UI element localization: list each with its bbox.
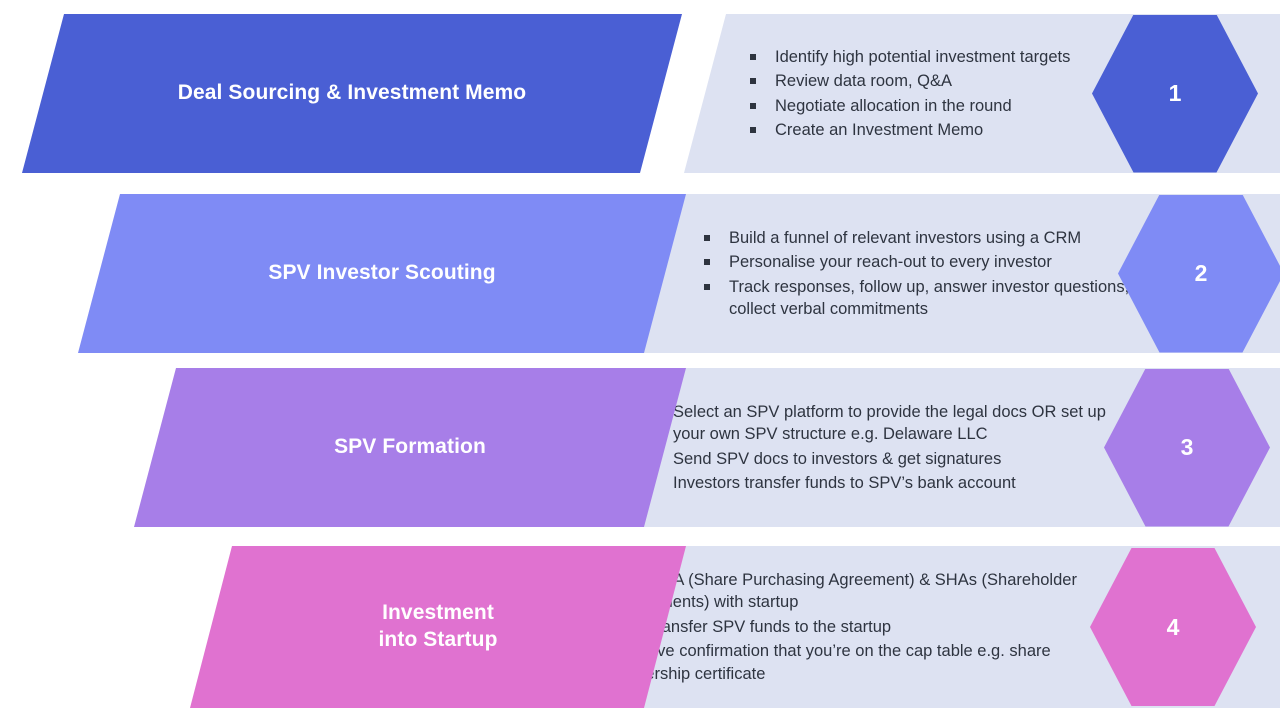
bullet-item: Personalise your reach-out to every inve… (702, 251, 1130, 274)
bullet-text: Negotiate allocation in the round (775, 97, 1012, 115)
square-bullet-icon (704, 259, 710, 265)
bullet-item: Select an SPV platform to provide the le… (646, 401, 1130, 446)
stage-title: SPV Investor Scouting (268, 259, 495, 288)
stage-bullet-list: Identify high potential investment targe… (748, 46, 1070, 142)
bullet-item: Track responses, follow up, answer inves… (702, 276, 1130, 321)
stage-number: 3 (1181, 436, 1194, 459)
bullet-text: Send SPV docs to investors & get signatu… (673, 450, 1001, 468)
stage-title: Investment into Startup (378, 599, 497, 655)
stage-number: 4 (1167, 616, 1180, 639)
bullet-text: Sign SPA (Share Purchasing Agreement) & … (615, 571, 1077, 612)
stage-label-shape: SPV Investor Scouting (78, 194, 686, 353)
bullet-item: Receive confirmation that you’re on the … (588, 640, 1130, 685)
bullet-item: Send SPV docs to investors & get signatu… (646, 448, 1130, 471)
stage-number: 1 (1169, 82, 1182, 105)
stage-row: Select an SPV platform to provide the le… (0, 368, 1280, 527)
stage-bullet-list: Select an SPV platform to provide the le… (646, 401, 1130, 495)
square-bullet-icon (750, 103, 756, 109)
bullet-item: Negotiate allocation in the round (748, 95, 1070, 118)
stage-label-shape: Investment into Startup (190, 546, 686, 708)
bullet-text: Track responses, follow up, answer inves… (729, 278, 1129, 319)
stage-row: Sign SPA (Share Purchasing Agreement) & … (0, 546, 1280, 708)
square-bullet-icon (750, 78, 756, 84)
process-funnel-diagram: Identify high potential investment targe… (0, 0, 1280, 720)
bullet-text: Receive confirmation that you’re on the … (615, 642, 1051, 683)
bullet-text: Investors transfer funds to SPV’s bank a… (673, 474, 1016, 492)
stage-label-shape: SPV Formation (134, 368, 686, 527)
stage-title: Deal Sourcing & Investment Memo (178, 79, 527, 108)
stage-row: Identify high potential investment targe… (0, 14, 1280, 173)
square-bullet-icon (750, 127, 756, 133)
stage-row: Build a funnel of relevant investors usi… (0, 194, 1280, 353)
stage-label-shape: Deal Sourcing & Investment Memo (22, 14, 682, 173)
bullet-text: Review data room, Q&A (775, 72, 952, 90)
bullet-item: Review data room, Q&A (748, 70, 1070, 93)
bullet-text: Select an SPV platform to provide the le… (673, 403, 1106, 444)
bullet-item: Investors transfer funds to SPV’s bank a… (646, 472, 1130, 495)
square-bullet-icon (704, 284, 710, 290)
stage-title: SPV Formation (334, 433, 486, 462)
stage-number: 2 (1195, 262, 1208, 285)
bullet-item: Bulk transfer SPV funds to the startup (588, 616, 1130, 639)
bullet-text: Personalise your reach-out to every inve… (729, 253, 1052, 271)
bullet-item: Build a funnel of relevant investors usi… (702, 227, 1130, 250)
bullet-text: Identify high potential investment targe… (775, 48, 1070, 66)
bullet-item: Identify high potential investment targe… (748, 46, 1070, 69)
bullet-text: Create an Investment Memo (775, 121, 983, 139)
stage-bullet-list: Build a funnel of relevant investors usi… (702, 227, 1130, 321)
square-bullet-icon (704, 235, 710, 241)
bullet-text: Build a funnel of relevant investors usi… (729, 229, 1081, 247)
square-bullet-icon (750, 54, 756, 60)
bullet-item: Create an Investment Memo (748, 119, 1070, 142)
